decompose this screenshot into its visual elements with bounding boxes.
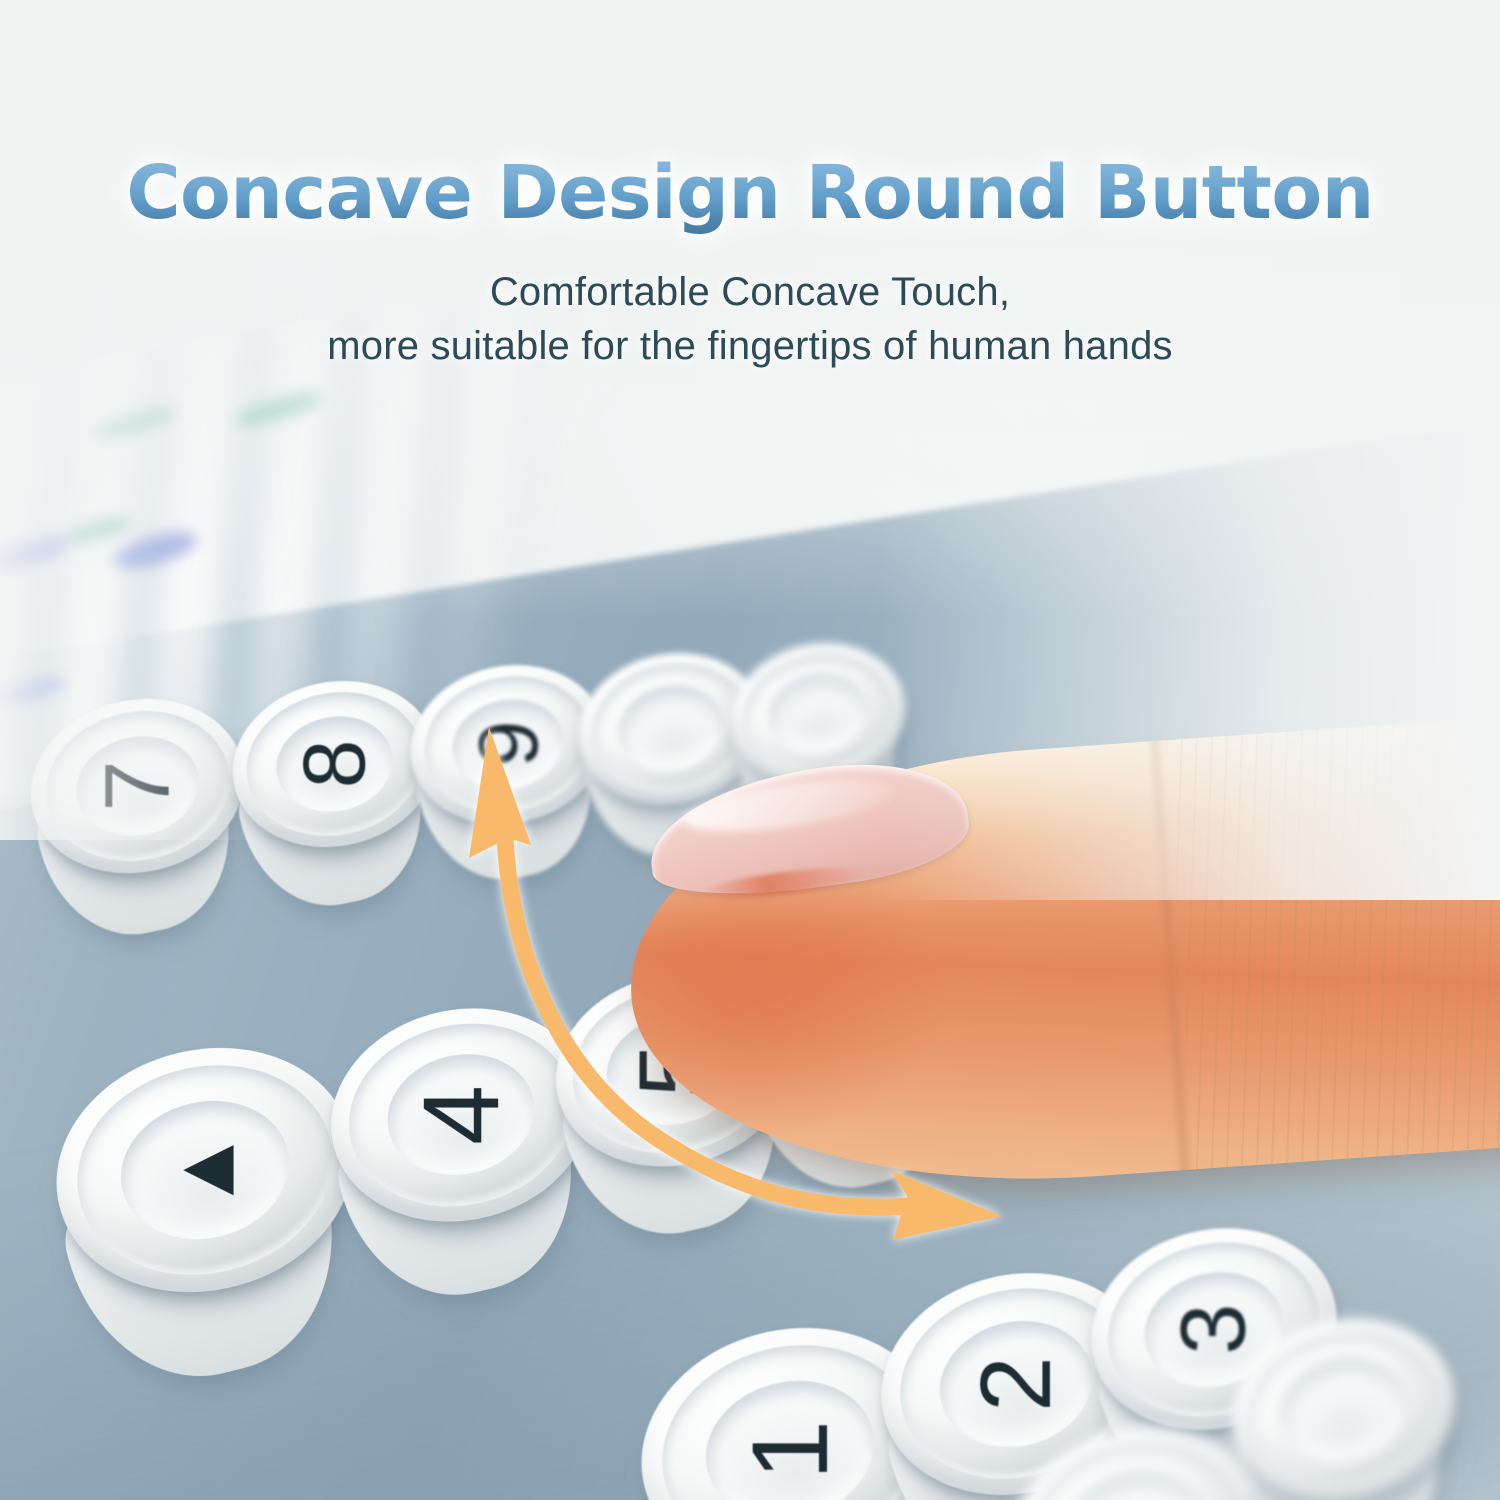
- page-title: Concave Design Round Button: [0, 150, 1500, 236]
- key-4-label: 4: [407, 1085, 515, 1145]
- key-3-label: 3: [1168, 1304, 1260, 1355]
- key-8-concave-dish: 8: [268, 706, 401, 821]
- key-1-label: 1: [736, 1420, 844, 1480]
- banner-canvas: 789▲456123: [0, 0, 1500, 1500]
- key-blur-a-concave-dish: [1268, 1345, 1417, 1476]
- subtitle-line-1: Comfortable Concave Touch,: [490, 270, 1010, 314]
- key-1-concave-dish: 1: [691, 1363, 889, 1500]
- key-9-concave-dish: 9: [444, 689, 571, 799]
- fingertip-blush: [616, 848, 1006, 1208]
- page-subtitle: Comfortable Concave Touch, more suitable…: [0, 265, 1500, 373]
- key-2-label: 2: [966, 1356, 1066, 1412]
- key-4-concave-dish: 4: [375, 1040, 547, 1189]
- key-8-label: 8: [290, 740, 378, 789]
- key-triangle-concave-dish: ▲: [106, 1083, 304, 1256]
- subtitle-line-2: more suitable for the fingertips of huma…: [0, 319, 1500, 373]
- key-9-label: 9: [466, 721, 550, 768]
- key-2-concave-dish: 2: [926, 1305, 1106, 1462]
- key-blur-b-concave-dish: [1052, 1458, 1217, 1500]
- key-top-4-concave-dish: [611, 676, 732, 781]
- key-triangle-label: ▲: [162, 1127, 248, 1212]
- key-top-5-concave-dish: [761, 665, 875, 764]
